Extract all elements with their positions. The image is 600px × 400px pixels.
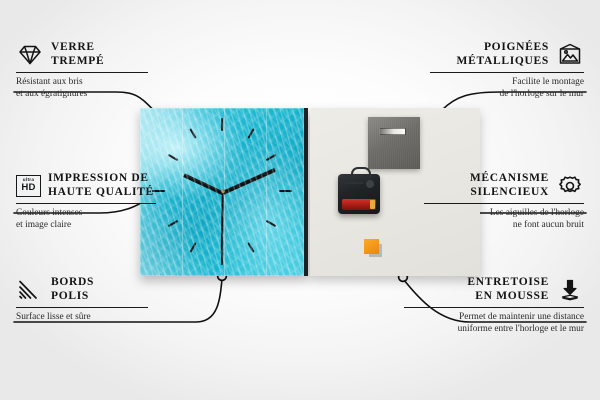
feature-print: ultra HD IMPRESSION DE HAUTE QUALITÉ Cou… xyxy=(16,172,176,231)
hanger-slot xyxy=(379,128,406,135)
tick-3 xyxy=(279,190,292,192)
feature-mechanism-title-1: MÉCANISME xyxy=(470,172,549,186)
feature-print-sub-2: et image claire xyxy=(16,220,176,232)
tick-11 xyxy=(189,128,196,139)
feature-handles-sub-1: Facilite le montage xyxy=(430,77,584,89)
feature-glass-sub-1: Résistant aux bris xyxy=(16,77,166,89)
ultra-hd-icon-main-label: HD xyxy=(21,183,35,193)
feature-edges-title-1: BORDS xyxy=(51,276,94,290)
feature-spacer-rule xyxy=(404,307,584,308)
minute-hand xyxy=(222,168,276,195)
feature-print-rule xyxy=(16,203,156,204)
tick-6 xyxy=(221,252,223,265)
feature-edges-title-2: POLIS xyxy=(51,290,94,304)
clock-mechanism-box xyxy=(338,174,380,214)
feature-mechanism-sub-2: ne font aucun bruit xyxy=(424,220,584,232)
arrow-down-stack-icon xyxy=(556,278,584,302)
feature-edges-rule xyxy=(16,307,148,308)
gear-icon xyxy=(556,174,584,198)
feature-print-sub-1: Couleurs intenses xyxy=(16,208,176,220)
polished-edges-icon xyxy=(16,278,44,302)
mechanism-dial xyxy=(366,180,374,188)
feature-print-title-1: IMPRESSION DE xyxy=(48,172,154,186)
feature-spacer-sub-2: uniforme entre l'horloge et le mur xyxy=(404,324,584,336)
feature-glass-rule xyxy=(16,72,148,73)
feature-glass-title-1: VERRE xyxy=(51,41,104,55)
feature-handles-title-1: POIGNÉES xyxy=(457,41,549,55)
hands-center-cap xyxy=(221,189,225,193)
picture-frame-icon xyxy=(556,43,584,67)
feature-glass-title-2: TREMPÉ xyxy=(51,55,104,69)
foam-spacer xyxy=(364,239,379,254)
feature-spacer-title-1: ENTRETOISE xyxy=(467,276,549,290)
feature-mechanism: MÉCANISME SILENCIEUX Les aiguilles de l'… xyxy=(424,172,584,231)
feature-glass: VERRE TREMPÉ Résistant aux bris et aux é… xyxy=(16,41,166,100)
feature-print-title-2: HAUTE QUALITÉ xyxy=(48,186,154,200)
tick-2 xyxy=(266,154,277,161)
ultra-hd-icon: ultra HD xyxy=(16,175,41,197)
metal-hanger-plate xyxy=(368,117,420,169)
feature-handles-sub-2: de l'horloge sur le mur xyxy=(430,89,584,101)
feature-mechanism-title-2: SILENCIEUX xyxy=(470,186,549,200)
feature-handles: POIGNÉES MÉTALLIQUES Facilite le montage… xyxy=(430,41,584,100)
tick-1 xyxy=(247,128,254,139)
feature-spacer-sub-1: Permet de maintenir une distance xyxy=(404,312,584,324)
feature-edges: BORDS POLIS Surface lisse et sûre xyxy=(16,276,166,324)
feature-spacer: ENTRETOISE EN MOUSSE Permet de maintenir… xyxy=(404,276,584,335)
infographic-canvas: VERRE TREMPÉ Résistant aux bris et aux é… xyxy=(0,0,600,400)
feature-handles-rule xyxy=(430,72,584,73)
feature-handles-title-2: MÉTALLIQUES xyxy=(457,55,549,69)
feature-mechanism-rule xyxy=(424,203,584,204)
hanger-loop xyxy=(351,167,371,178)
battery xyxy=(342,199,376,210)
feature-glass-sub-2: et aux égratignures xyxy=(16,89,166,101)
diamond-icon xyxy=(16,43,44,67)
feature-mechanism-sub-1: Les aiguilles de l'horloge xyxy=(424,208,584,220)
tick-5 xyxy=(247,242,254,253)
hour-hand xyxy=(183,173,224,195)
feature-edges-sub-1: Surface lisse et sûre xyxy=(16,312,166,324)
tick-12 xyxy=(221,118,223,131)
battery-terminal xyxy=(370,200,375,209)
tick-7 xyxy=(189,242,196,253)
feature-spacer-title-2: EN MOUSSE xyxy=(467,290,549,304)
tick-4 xyxy=(266,220,277,227)
tick-10 xyxy=(168,154,179,161)
mechanism-detail xyxy=(344,182,364,184)
